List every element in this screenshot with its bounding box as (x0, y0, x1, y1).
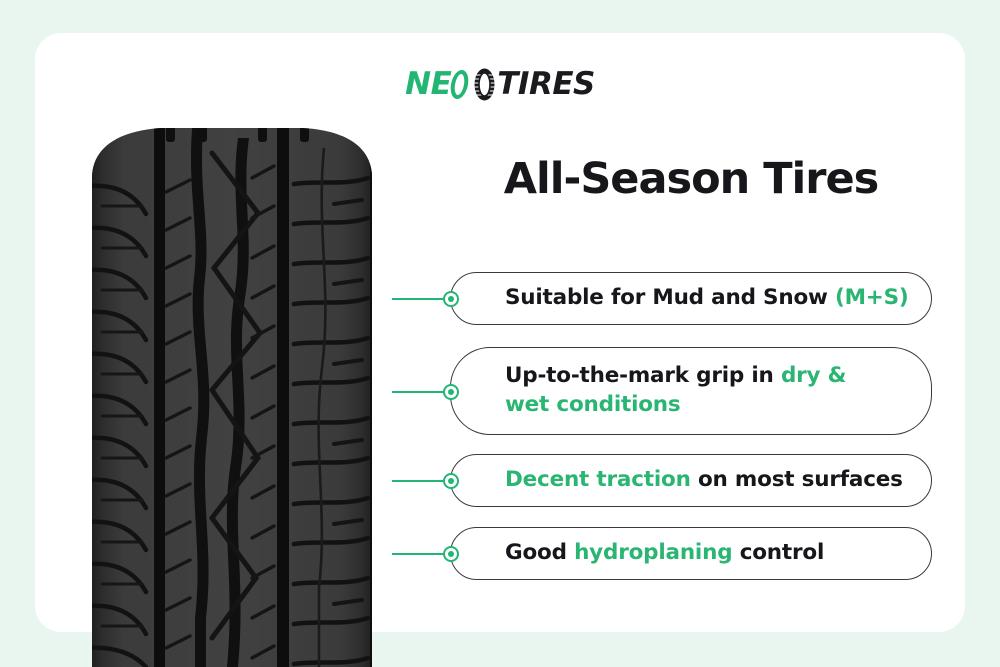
feature-pill[interactable]: Suitable for Mud and Snow (M+S) (450, 272, 932, 325)
feature-text: Good hydroplaning control (505, 539, 824, 568)
infographic-page: NE TIRES All-Season Tires (0, 0, 1000, 667)
accent-text: (M+S) (835, 285, 909, 310)
tire-image-container (62, 118, 397, 667)
bullet-marker-icon (443, 291, 459, 307)
feature-pill[interactable]: Up-to-the-mark grip in dry &wet conditio… (450, 347, 932, 435)
plain-text: Suitable for Mud and Snow (505, 285, 835, 310)
feature-pill[interactable]: Decent traction on most surfaces (450, 454, 932, 507)
plain-text: control (732, 540, 824, 565)
feature-text: Up-to-the-mark grip in dry &wet conditio… (505, 362, 846, 419)
accent-text: wet conditions (505, 392, 681, 417)
accent-text: hydroplaning (574, 540, 732, 565)
plain-text: Good (505, 540, 574, 565)
page-title: All-Season Tires (450, 156, 932, 203)
bullet-marker-icon (443, 546, 459, 562)
plain-text: on most surfaces (691, 467, 903, 492)
feature-text: Decent traction on most surfaces (505, 466, 903, 495)
accent-text: Decent traction (505, 467, 691, 492)
bullet-marker-icon (443, 473, 459, 489)
accent-text: dry & (781, 363, 846, 388)
all-season-tire-tread-photo (62, 118, 397, 667)
feature-pill[interactable]: Good hydroplaning control (450, 527, 932, 580)
feature-text: Suitable for Mud and Snow (M+S) (505, 284, 909, 313)
bullet-marker-icon (443, 384, 459, 400)
plain-text: Up-to-the-mark grip in (505, 363, 781, 388)
